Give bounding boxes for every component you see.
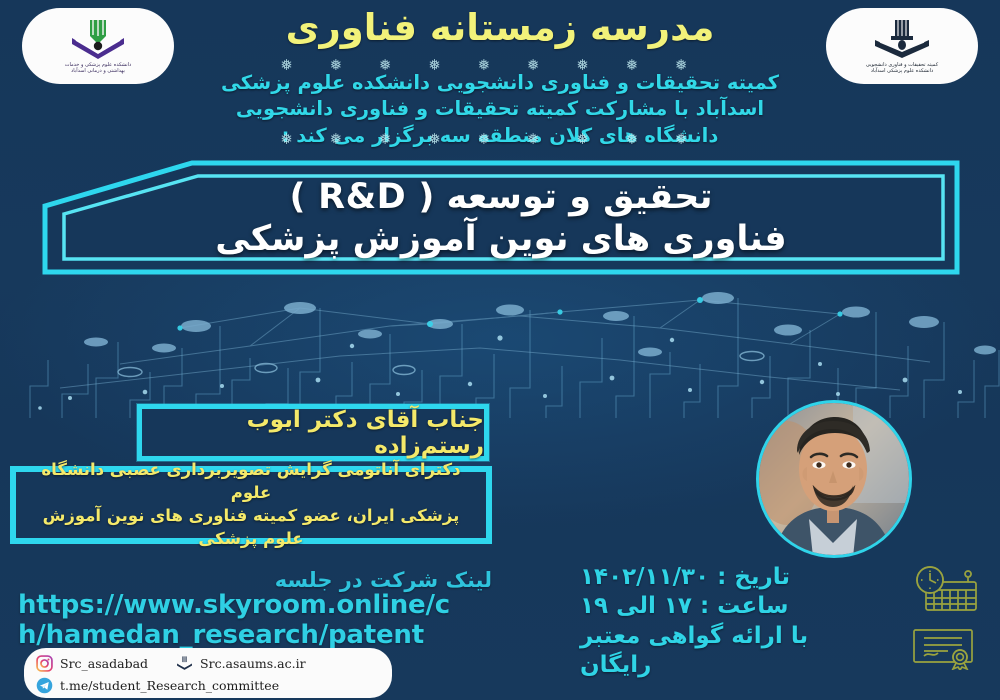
social-row-bottom: t.me/student_Research_committee bbox=[36, 675, 380, 696]
meeting-link-url[interactable]: https://www.skyroom.online/c h/hamedan_r… bbox=[18, 590, 518, 651]
speaker-name-text: جناب آقای دکتر ایوب رستم‌زاده bbox=[142, 407, 484, 459]
university-website-icon[interactable] bbox=[176, 655, 193, 672]
instagram-icon[interactable] bbox=[36, 655, 53, 672]
speaker-bio-line2: پزشکی ایران، عضو کمیته فناوری های نوین آ… bbox=[26, 505, 476, 528]
organizer-subtitle-line2: اسدآباد با مشارکت کمیته تحقیقات و فناوری… bbox=[0, 96, 1000, 122]
social-row-top: Src_asadabad Src.asaums.ac.ir bbox=[36, 653, 380, 674]
event-date: تاریخ : ۱۴۰۲/۱۱/۳۰ bbox=[580, 563, 900, 592]
speaker-name-box: جناب آقای دکتر ایوب رستم‌زاده bbox=[137, 404, 489, 461]
meeting-link-url-line1[interactable]: https://www.skyroom.online/c bbox=[18, 590, 518, 620]
organizer-subtitle-line1: کمیته تحقیقات و فناوری دانشجویی دانشکده … bbox=[0, 70, 1000, 96]
snowflake-divider-bottom: ❅ ❅ ❅ ❅ ❅ ❅ ❅ ❅ ❅ bbox=[0, 130, 1000, 148]
main-title-line2: فناوری های نوین آموزش پزشکی bbox=[215, 219, 786, 259]
meeting-link-label: لینک شرکت در جلسه bbox=[275, 568, 492, 592]
speaker-bio-text: دکترای آناتومی گرایش تصویربرداری عصبی دا… bbox=[26, 459, 476, 550]
event-certificate: با ارائه گواهی معتبر bbox=[580, 622, 900, 651]
speaker-bio-line1: دکترای آناتومی گرایش تصویربرداری عصبی دا… bbox=[26, 459, 476, 505]
certificate-icon bbox=[908, 626, 980, 670]
event-free: رایگان bbox=[580, 651, 900, 680]
event-info-icons bbox=[902, 566, 986, 670]
speaker-bio-box: دکترای آناتومی گرایش تصویربرداری عصبی دا… bbox=[10, 466, 492, 544]
telegram-url[interactable]: t.me/student_Research_committee bbox=[60, 678, 279, 693]
event-info-block: تاریخ : ۱۴۰۲/۱۱/۳۰ ساعت : ۱۷ الی ۱۹ با ا… bbox=[580, 563, 900, 681]
speaker-bio-line3: علوم پزشکی bbox=[26, 528, 476, 551]
speaker-portrait-avatar bbox=[756, 400, 912, 558]
website-url[interactable]: Src.asaums.ac.ir bbox=[200, 656, 306, 671]
poster-main-heading: مدرسه زمستانه فناوری bbox=[0, 6, 1000, 49]
main-title-frame: تحقیق و توسعه ( R&D ) فناوری های نوین آم… bbox=[42, 160, 960, 275]
main-title-line1: تحقیق و توسعه ( R&D ) bbox=[289, 177, 712, 217]
calendar-clock-icon bbox=[908, 566, 980, 616]
telegram-icon[interactable] bbox=[36, 677, 53, 694]
meeting-link-url-line2[interactable]: h/hamedan_research/patent bbox=[18, 620, 518, 650]
social-contact-card: Src_asadabad Src.asaums.ac.ir t.me/stude… bbox=[24, 648, 392, 698]
instagram-handle[interactable]: Src_asadabad bbox=[60, 656, 148, 671]
event-poster: دانشکده علوم پزشکی و خدمات بهداشتی و درم… bbox=[0, 0, 1000, 700]
circuit-network-background bbox=[0, 268, 1000, 418]
main-title-text: تحقیق و توسعه ( R&D ) فناوری های نوین آم… bbox=[42, 160, 960, 275]
event-time: ساعت : ۱۷ الی ۱۹ bbox=[580, 592, 900, 621]
